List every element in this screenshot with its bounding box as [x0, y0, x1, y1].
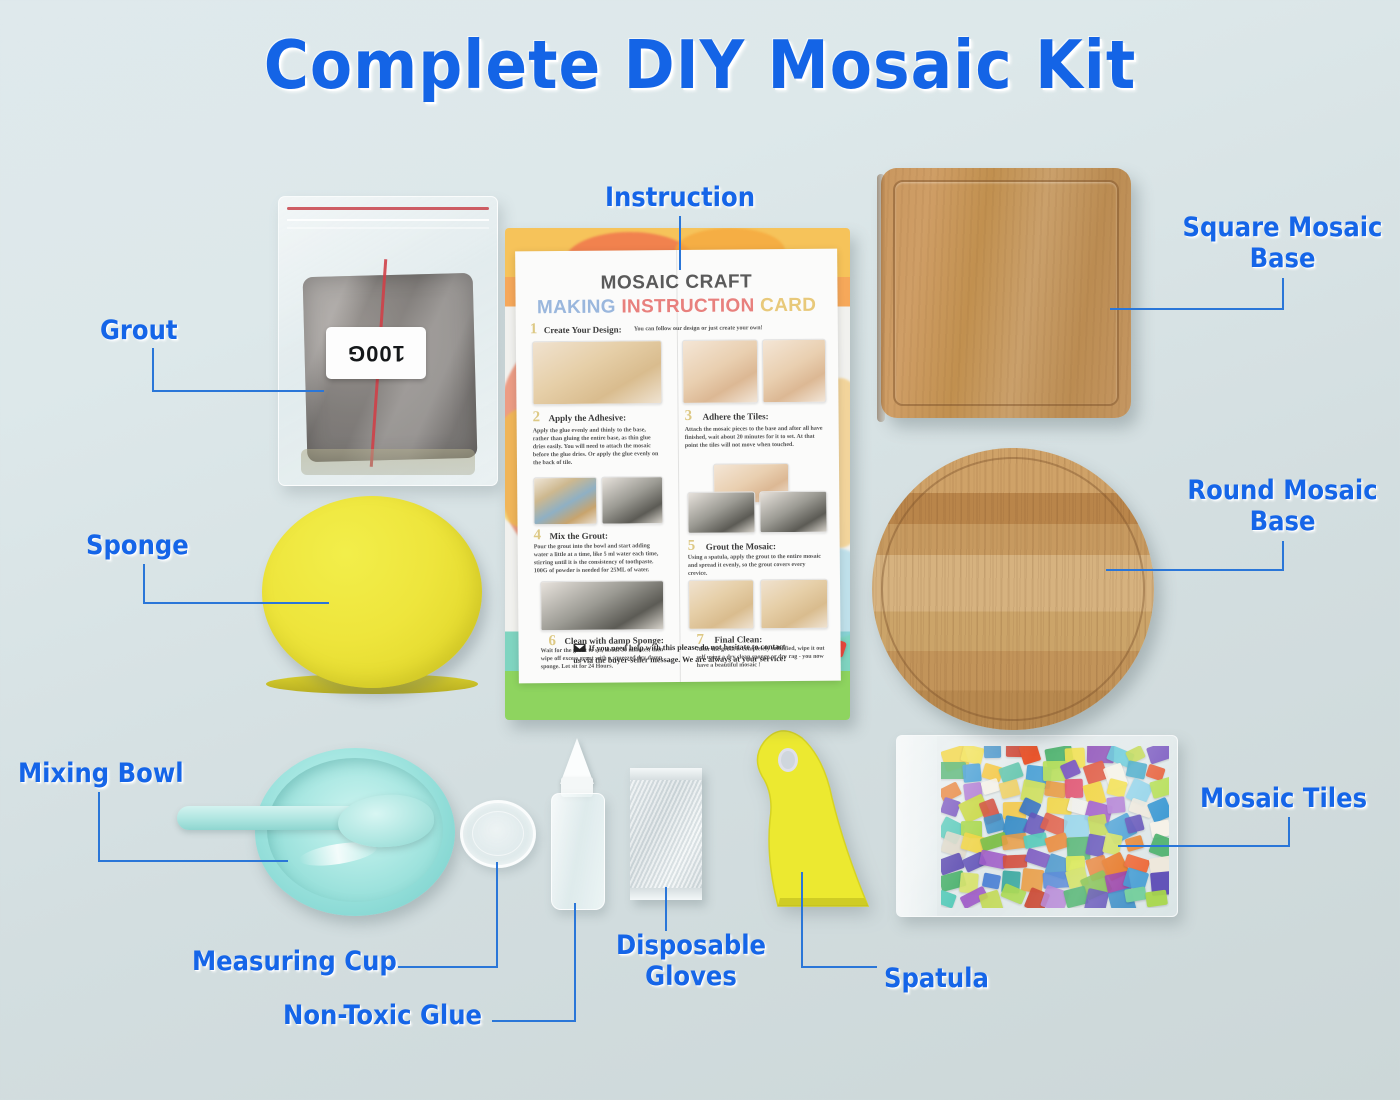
mosaic-tile [982, 872, 1002, 889]
mosaic-tile [1019, 746, 1042, 765]
callout-label-sponge: Sponge [86, 530, 189, 561]
measuring-cup-product [460, 800, 536, 868]
callout-label-spatula: Spatula [884, 963, 989, 994]
leader-line-mixing-bowl-v [98, 792, 100, 862]
mosaic-tile [999, 779, 1022, 799]
step-body: Attach the mosaic pieces to the base and… [685, 425, 825, 450]
mosaic-tile [962, 763, 981, 782]
leader-line-round-base-v [1282, 541, 1284, 571]
grout-weight-tag: 100G [326, 327, 426, 379]
grout-bag-product: 100G [278, 196, 498, 486]
leader-line-square-base-v [1282, 278, 1284, 310]
step-title: Adhere the Tiles: [703, 411, 769, 422]
step-number: 1 [530, 321, 538, 338]
instruction-card-sheet: MOSAIC CRAFT MAKING INSTRUCTION CARD 1 C… [515, 249, 841, 684]
step-title: Mix the Grout: [550, 531, 608, 542]
step-number: 3 [684, 408, 692, 425]
leader-line-square-base-h [1110, 308, 1284, 310]
leader-line-grout-v [152, 348, 154, 392]
mosaic-tile [1044, 832, 1070, 853]
card-subheading: MAKING INSTRUCTION CARD [516, 295, 838, 320]
callout-label-mosaic-tiles: Mosaic Tiles [1200, 783, 1367, 814]
square-mosaic-base-product [881, 168, 1131, 418]
leader-line-mixing-bowl-h [98, 860, 288, 862]
mosaic-tile [1106, 797, 1126, 815]
step-number: 2 [532, 409, 540, 426]
step-body: Using a spatula, apply the grout to the … [688, 553, 826, 578]
mosaic-tile [941, 797, 961, 818]
leader-line-round-base-h [1106, 569, 1284, 571]
infographic-canvas: Complete DIY Mosaic Kit 100G [0, 0, 1400, 1100]
step-number: 5 [688, 538, 696, 555]
mosaic-tile [984, 746, 1001, 758]
leader-line-grout-h [152, 390, 324, 392]
instruction-card-product: MOSAIC CRAFT MAKING INSTRUCTION CARD 1 C… [505, 228, 850, 720]
envelope-icon [574, 644, 586, 652]
grout-weight-text: 100G [347, 340, 405, 366]
leader-line-sponge-v [143, 564, 145, 604]
step-body: You can follow our design or just create… [634, 324, 824, 334]
callout-label-measuring-cup: Measuring Cup [192, 946, 397, 977]
mosaic-tile [1064, 815, 1089, 837]
mosaic-tile [1003, 854, 1027, 868]
leader-line-mosaic-tiles-h [1118, 845, 1290, 847]
leader-line-spatula-v [801, 872, 803, 968]
step-title: Create Your Design: [544, 324, 622, 335]
leader-line-mosaic-tiles-v [1288, 817, 1290, 847]
step-title: Grout the Mosaic: [706, 541, 776, 552]
card-subheading-making: MAKING [537, 296, 622, 318]
sponge-product [262, 496, 482, 688]
leader-line-instruction [679, 216, 681, 270]
mosaic-tile [1146, 746, 1169, 764]
callout-label-square-base: Square Mosaic Base [1170, 212, 1395, 274]
callout-label-non-toxic-glue: Non-Toxic Glue [283, 1000, 482, 1031]
mosaic-tile [941, 890, 957, 908]
leader-line-sponge-h [143, 602, 329, 604]
leader-line-spatula-h [801, 966, 877, 968]
mosaic-tile [1044, 780, 1067, 798]
mosaic-tiles-bag-product [896, 735, 1178, 917]
mosaic-tile [980, 778, 1000, 796]
mosaic-tile [1145, 890, 1168, 907]
step-title: Apply the Adhesive: [549, 412, 627, 423]
spatula-product [718, 728, 878, 908]
mosaic-tile [1065, 779, 1084, 799]
disposable-gloves-product [630, 768, 702, 900]
card-subheading-instruction: INSTRUCTION [621, 295, 760, 317]
leader-line-measuring-cup-h [398, 966, 498, 968]
card-subheading-card: CARD [760, 295, 816, 316]
callout-label-instruction: Instruction [560, 182, 800, 213]
card-footer: If you need help with this please do not… [533, 641, 827, 668]
mosaic-tile [1124, 814, 1145, 834]
leader-line-glue-h [492, 1020, 576, 1022]
step-number: 4 [534, 527, 542, 544]
mosaic-tile [1084, 888, 1110, 908]
mosaic-tile [1125, 760, 1147, 780]
callout-label-mixing-bowl: Mixing Bowl [18, 758, 184, 789]
leader-line-measuring-cup-v [496, 862, 498, 968]
step-body: Apply the glue evenly and thinly to the … [533, 426, 661, 467]
mosaic-tile [1106, 778, 1127, 798]
card-footer-line1: If you need help with this please do not… [589, 642, 786, 653]
callout-label-disposable-gloves: Disposable Gloves [570, 930, 812, 992]
leader-line-gloves [665, 887, 667, 931]
callout-label-grout: Grout [100, 315, 178, 346]
round-mosaic-base-product [872, 448, 1154, 730]
card-heading: MOSAIC CRAFT [515, 271, 837, 296]
glue-bottle-product [551, 793, 605, 910]
callout-label-round-base: Round Mosaic Base [1170, 475, 1395, 537]
mosaic-tile [1124, 886, 1147, 902]
step-body: Pour the grout into the bowl and start a… [534, 542, 662, 575]
card-footer-line2: us via the buyer-seller message. We are … [573, 654, 786, 665]
mosaic-tile [1149, 776, 1169, 799]
mosaic-tiles-field [941, 746, 1169, 908]
page-title: Complete DIY Mosaic Kit [0, 26, 1400, 104]
